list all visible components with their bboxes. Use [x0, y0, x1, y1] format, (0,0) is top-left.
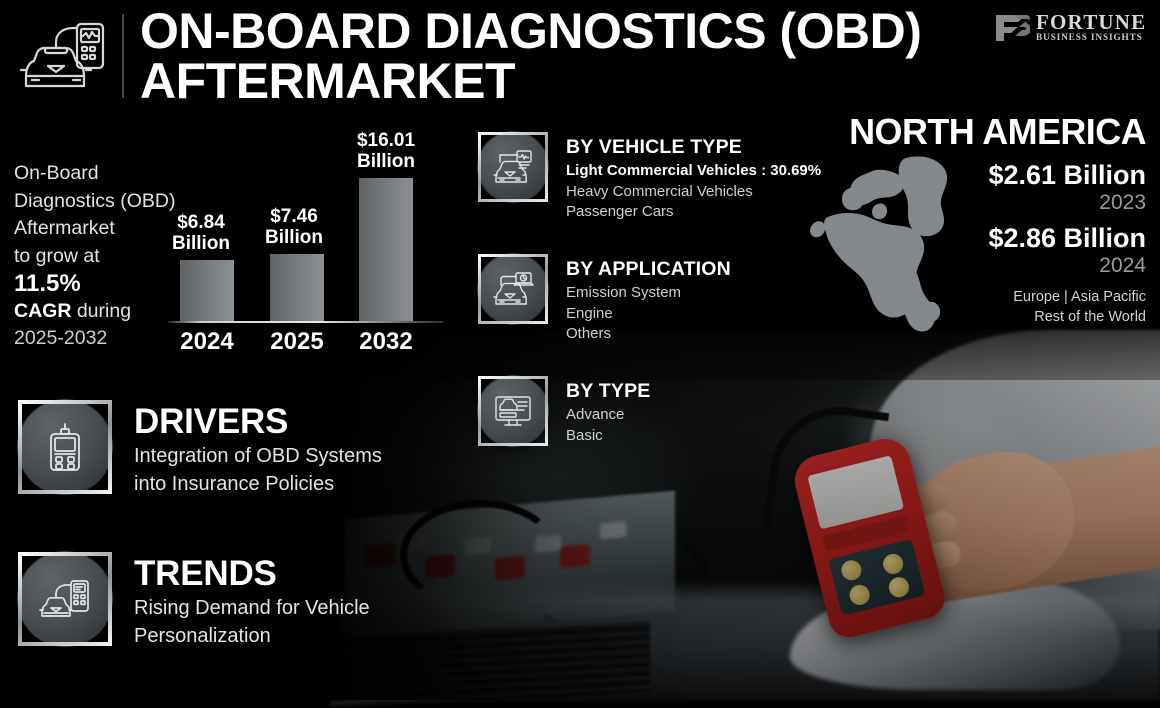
callout-line-1: Integration of OBD Systems — [134, 442, 434, 470]
segment-by-vehicle-type: BY VEHICLE TYPE Light Commercial Vehicle… — [478, 132, 838, 232]
bar-value-unit-1: Billion — [265, 227, 323, 248]
fortune-business-insights-logo: FORTUNE BUSINESS INSIGHTS — [992, 8, 1152, 48]
bar-value-label-0: $6.84 Billion $6.84 Billion — [162, 212, 240, 254]
segment-item: Advance — [566, 405, 838, 426]
bar-2032 — [359, 178, 413, 321]
bar-category-1: 2025 — [254, 328, 340, 356]
segment-title: BY VEHICLE TYPE — [566, 136, 838, 159]
segment-title: BY TYPE — [566, 380, 838, 403]
header-divider — [122, 14, 124, 98]
car-with-obd-scanner-icon — [16, 14, 110, 98]
callout-title: TRENDS — [134, 554, 434, 594]
cagr-line: CAGR during — [14, 298, 184, 326]
callout-line-2: Personalization — [134, 622, 434, 650]
cagr-value: 11.5% — [14, 270, 184, 298]
page-title: ON-BOARD DIAGNOSTICS (OBD) AFTERMARKET — [140, 6, 930, 106]
bar-value-amount-0: $6.84 — [177, 212, 225, 233]
bar-value-unit-0: Billion — [172, 233, 230, 254]
monitor-diagnostics-icon — [478, 376, 548, 446]
bar-value-unit-2: Billion — [357, 151, 415, 172]
callouts-list: DRIVERS Integration of OBD Systems into … — [14, 400, 434, 704]
logo-main-text: FORTUNE — [1036, 12, 1146, 33]
fb-monogram-icon — [992, 11, 1030, 45]
bar-category-0: 2024 — [164, 328, 250, 356]
segment-item: Heavy Commercial Vehicles — [566, 182, 838, 203]
chart-baseline — [168, 321, 443, 323]
market-summary: On-Board Diagnostics (OBD) Aftermarket t… — [14, 160, 184, 353]
callout-trends: TRENDS Rising Demand for Vehicle Persona… — [14, 552, 434, 652]
summary-line-1: On-Board — [14, 160, 184, 188]
cagr-during: during — [71, 300, 131, 322]
segmentation-list: BY VEHICLE TYPE Light Commercial Vehicle… — [478, 132, 838, 498]
bar-category-2: 2032 — [343, 328, 429, 356]
bar-value-amount-2: $16.01 — [357, 130, 415, 151]
summary-line-4: to grow at — [14, 243, 184, 271]
bar-value-label-1: $7.46 Billion — [254, 206, 334, 248]
north-america-map — [808, 142, 998, 332]
bar-2024 — [180, 260, 234, 321]
region-panel: NORTH AMERICA $2.61 Billion 2023 $2.86 B… — [846, 112, 1146, 327]
callout-line-1: Rising Demand for Vehicle — [134, 594, 434, 622]
logo-sub-text: BUSINESS INSIGHTS — [1036, 34, 1146, 43]
segment-item: Basic — [566, 426, 838, 447]
callout-drivers: DRIVERS Integration of OBD Systems into … — [14, 400, 434, 500]
cagr-label: CAGR — [14, 300, 71, 322]
segment-by-application: BY APPLICATION Emission System Engine Ot… — [478, 254, 838, 354]
segment-item: Light Commercial Vehicles : 30.69% — [566, 161, 838, 182]
segment-item: Passenger Cars — [566, 202, 838, 223]
vehicle-diagnostics-icon — [478, 132, 548, 202]
handheld-scanner-icon — [18, 400, 112, 494]
forecast-period: 2025-2032 — [14, 325, 184, 353]
bar-value-label-2: $16.01 Billion — [340, 130, 432, 172]
segment-item: Engine — [566, 304, 838, 325]
car-scanner-tool-icon — [18, 552, 112, 646]
callout-title: DRIVERS — [134, 402, 434, 442]
summary-line-3: Aftermarket — [14, 215, 184, 243]
market-size-bar-chart: $6.84 Billion $6.84 Billion 2024 $7.46 B… — [160, 120, 450, 360]
header: ON-BOARD DIAGNOSTICS (OBD) AFTERMARKET F… — [0, 0, 1160, 112]
segment-title: BY APPLICATION — [566, 258, 838, 281]
segment-item: Emission System — [566, 283, 838, 304]
vehicle-laptop-icon — [478, 254, 548, 324]
bar-value-amount-1: $7.46 — [270, 206, 318, 227]
bar-2025 — [270, 254, 324, 321]
summary-line-2: Diagnostics (OBD) — [14, 188, 184, 216]
segment-item: Others — [566, 324, 838, 345]
segment-by-type: BY TYPE Advance Basic — [478, 376, 838, 476]
callout-line-2: into Insurance Policies — [134, 470, 434, 498]
